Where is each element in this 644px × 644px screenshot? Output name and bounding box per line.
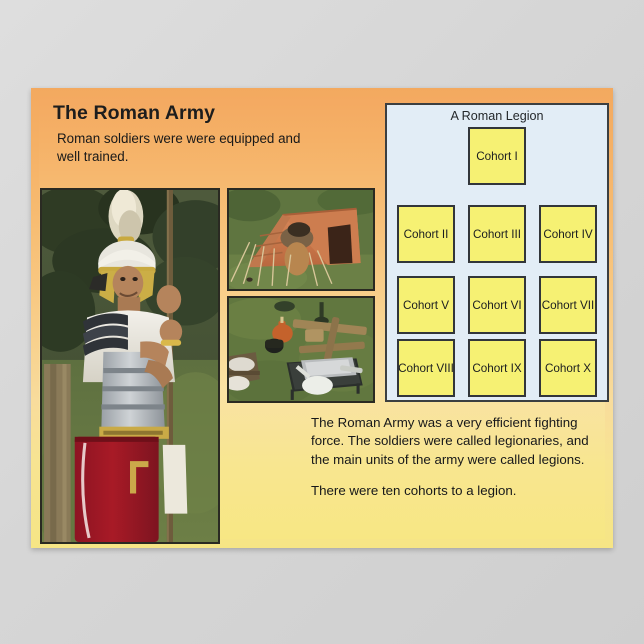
cohort-grid: Cohort I Cohort II Cohort III Cohort IV … [387, 105, 607, 400]
roman-soldier-photo [40, 188, 220, 544]
cohort-box-8[interactable]: Cohort VIII [397, 339, 455, 397]
cohort-box-10[interactable]: Cohort X [539, 339, 597, 397]
camp-equipment-photo [227, 296, 375, 403]
cohort-box-7[interactable]: Cohort VII [539, 276, 597, 334]
cohort-box-2[interactable]: Cohort II [397, 205, 455, 263]
cohort-box-4[interactable]: Cohort IV [539, 205, 597, 263]
page-title: The Roman Army [53, 102, 215, 125]
cohort-box-9[interactable]: Cohort IX [468, 339, 526, 397]
cohort-box-3[interactable]: Cohort III [468, 205, 526, 263]
roman-legion-diagram: A Roman Legion Cohort I Cohort II Cohort… [385, 103, 609, 402]
cohort-box-1[interactable]: Cohort I [468, 127, 526, 185]
cohort-box-5[interactable]: Cohort V [397, 276, 455, 334]
roman-army-poster: The Roman Army Roman soldiers were were … [31, 88, 613, 548]
roman-tent-photo [227, 188, 375, 291]
poster-subtitle: Roman soldiers were were equipped and we… [57, 130, 307, 166]
body-paragraph-1: The Roman Army was a very efficient figh… [311, 414, 589, 469]
body-text-block: The Roman Army was a very efficient figh… [311, 414, 589, 500]
body-paragraph-2: There were ten cohorts to a legion. [311, 482, 589, 500]
cohort-box-6[interactable]: Cohort VI [468, 276, 526, 334]
poster-content-area: The Roman Army Roman soldiers were were … [39, 97, 605, 539]
